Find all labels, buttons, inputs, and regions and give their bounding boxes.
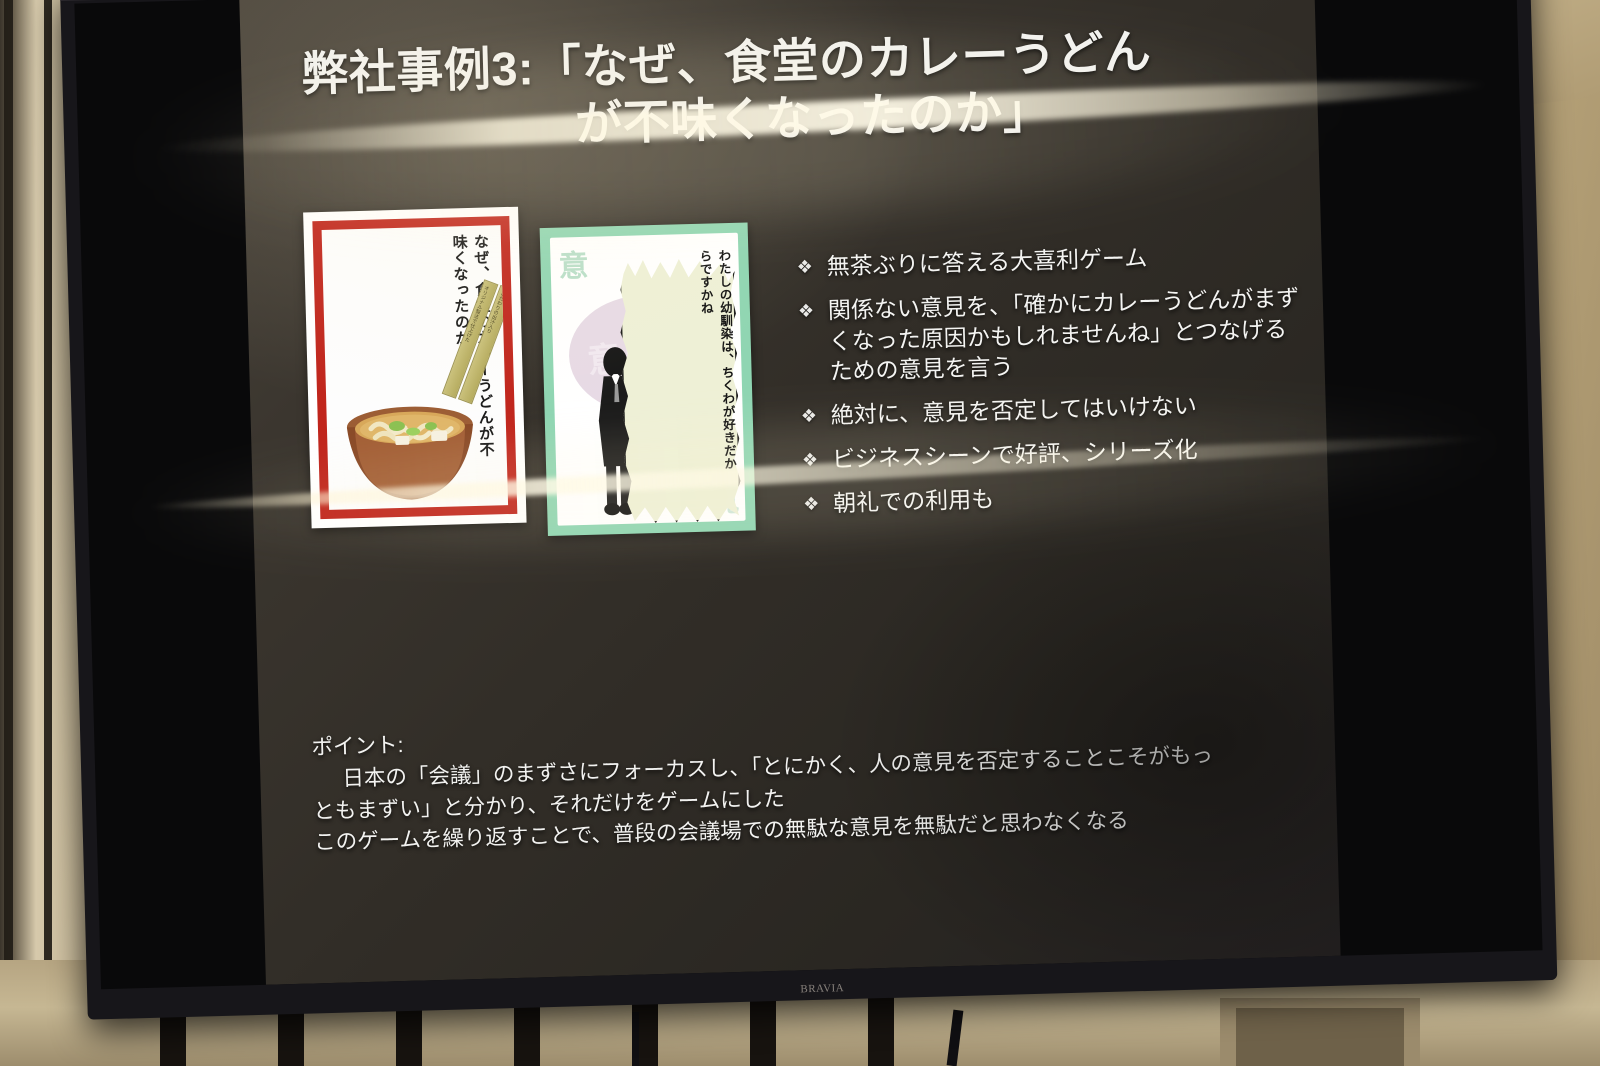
list-item: ❖ 無茶ぶりに答える大喜利ゲーム: [796, 239, 1302, 283]
book-cover-image: なぜ、食堂のカレーうどんが不味くなったのか オリジナル製法で仕上げた こだわりの…: [303, 207, 526, 529]
tv-cable: [632, 1012, 639, 1066]
speech-bubble-text: わたしの幼馴染は、ちくわが好きだからですかね: [694, 249, 738, 478]
bullet-text: 無茶ぶりに答える大喜利ゲーム: [826, 243, 1147, 282]
bullet-text: 関係ない意見を、「確かにカレーうどんがまずくなった原因かもしれませんね」とつなげ…: [828, 282, 1305, 387]
presentation-slide: 弊社事例3:「なぜ、食堂のカレーうどん が不味くなったのか」 なぜ、食堂のカレー…: [239, 0, 1340, 985]
wall-slat: [4, 0, 13, 1066]
bullet-text: 絶対に、意見を否定してはいけない: [830, 391, 1197, 432]
bullet-list: ❖ 無茶ぶりに答える大喜利ゲーム ❖ 関係ない意見を、「確かにカレーうどんがまず…: [796, 239, 1308, 533]
diamond-bullet-icon: ❖: [803, 488, 834, 519]
slide-images: なぜ、食堂のカレーうどんが不味くなったのか オリジナル製法で仕上げた こだわりの…: [303, 200, 767, 542]
floor-object: [1236, 1008, 1404, 1066]
manga-panel-inner: 意 見 意見: [550, 233, 746, 526]
diamond-bullet-icon: ❖: [798, 295, 829, 326]
slide-title: 弊社事例3:「なぜ、食堂のカレーうどん が不味くなったのか」: [301, 20, 1264, 161]
bullet-text: ビジネスシーンで好評、シリーズ化: [832, 434, 1198, 475]
tv-brand-logo: BRAVIA: [800, 982, 844, 995]
bullet-text: 朝礼での利用も: [833, 484, 995, 519]
diamond-bullet-icon: ❖: [802, 444, 833, 475]
list-item: ❖ 関係ない意見を、「確かにカレーうどんがまずくなった原因かもしれませんね」とつ…: [798, 282, 1305, 388]
udon-bowl-illustration: [334, 394, 487, 506]
tv-bezel: 弊社事例3:「なぜ、食堂のカレーうどん が不味くなったのか」 なぜ、食堂のカレー…: [60, 0, 1557, 1020]
list-item: ❖ 朝礼での利用も: [803, 475, 1309, 519]
tv-screen: 弊社事例3:「なぜ、食堂のカレーうどん が不味くなったのか」 なぜ、食堂のカレー…: [74, 0, 1542, 989]
manga-panel-image: 意 見 意見: [540, 222, 756, 536]
television: 弊社事例3:「なぜ、食堂のカレーうどん が不味くなったのか」 なぜ、食堂のカレー…: [60, 0, 1557, 1020]
list-item: ❖ 絶対に、意見を否定してはいけない: [800, 388, 1306, 432]
diamond-bullet-icon: ❖: [800, 401, 831, 432]
book-cover-frame: なぜ、食堂のカレーうどんが不味くなったのか オリジナル製法で仕上げた こだわりの…: [312, 216, 517, 519]
room-scene: 弊社事例3:「なぜ、食堂のカレーうどん が不味くなったのか」 なぜ、食堂のカレー…: [0, 0, 1600, 1066]
point-block: ポイント: 日本の「会議」のまずさにフォーカスし、「とにかく、人の意見を否定する…: [311, 706, 1294, 860]
watermark-kanji-i: 意: [558, 241, 589, 286]
diamond-bullet-icon: ❖: [796, 251, 827, 282]
list-item: ❖ ビジネスシーンで好評、シリーズ化: [802, 432, 1308, 476]
wall-slat: [44, 0, 52, 1066]
